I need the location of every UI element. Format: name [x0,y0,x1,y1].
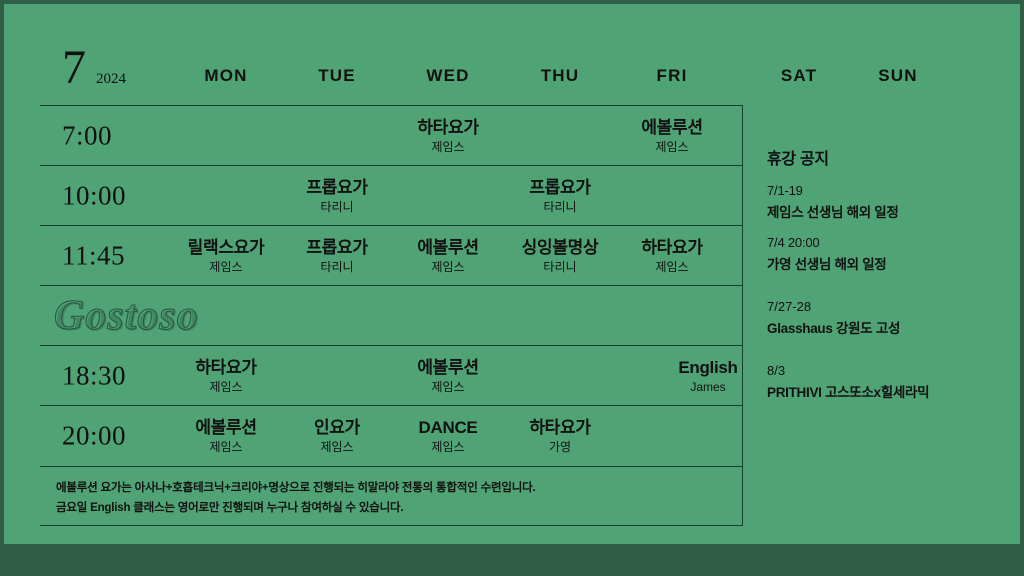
schedule-row-1830: 18:30 하타요가 제임스 에볼루션 제임스 English James [40,346,742,406]
class-title: English [678,356,737,377]
event-venue: Glasshaus [767,321,833,336]
class-teacher: 제임스 [195,440,256,455]
brand-logo: Gostoso [54,292,199,340]
class-title: 에볼루션 [417,356,478,377]
event-text: PRITHIVI 고스또소x힐세라믹 [767,381,988,401]
class-cell-thu[interactable]: 하타요가 가영 [529,417,590,455]
class-cell-wed[interactable]: DANCE 제임스 [419,417,478,455]
poster-header: 7 2024 MON TUE WED THU FRI SAT SUN [40,44,988,104]
class-cell-thu[interactable]: 프롭요가 타리니 [529,176,590,214]
class-cell-fri[interactable]: 에볼루션 제임스 [641,116,702,154]
footer-note: 에볼루션 요가는 아사나+호흡테크닉+크리야+명상으로 진행되는 히말라야 전통… [40,466,742,526]
class-cell-wed[interactable]: 에볼루션 제임스 [417,356,478,394]
day-header-fri: FRI [657,66,688,86]
class-title: 하타요가 [195,356,256,377]
class-teacher: 타리니 [306,200,367,215]
class-title: 하타요가 [641,236,702,257]
class-teacher: 제임스 [417,380,478,395]
row-time: 18:30 [62,360,126,391]
event-place: 강원도 고성 [836,321,900,336]
class-title: 싱잉볼명상 [522,236,599,257]
class-teacher: 가영 [529,440,590,455]
class-cell-mon[interactable]: 릴랙스요가 제임스 [188,236,265,274]
notice-text: 가영 선생님 해외 일정 [767,253,988,273]
class-teacher: 타리니 [522,260,599,275]
class-title: 에볼루션 [641,116,702,137]
schedule-poster: 7 2024 MON TUE WED THU FRI SAT SUN 7:00 … [4,4,1020,544]
class-teacher: 제임스 [641,260,702,275]
class-title: 에볼루션 [417,236,478,257]
logo-band: Gostoso [40,286,742,346]
day-header-mon: MON [204,66,247,86]
schedule-row-1000: 10:00 프롭요가 타리니 프롭요가 타리니 [40,166,742,226]
class-title: DANCE [419,417,478,438]
month-block: 7 2024 [62,44,126,92]
class-teacher: James [678,380,737,395]
class-cell-wed[interactable]: 하타요가 제임스 [417,116,478,154]
day-header-tue: TUE [318,66,356,86]
row-time: 20:00 [62,421,126,452]
class-title: 하타요가 [417,116,478,137]
event-date: 7/27-28 [767,299,988,314]
class-cell-wed[interactable]: 에볼루션 제임스 [417,236,478,274]
notice-item: 7/1-19 제임스 선생님 해외 일정 [767,183,988,221]
notice-date: 7/4 20:00 [767,235,988,250]
class-title: 프롭요가 [529,176,590,197]
class-cell-fri[interactable]: English James [678,356,737,394]
class-cell-tue[interactable]: 인요가 제임스 [314,417,360,455]
row-time: 11:45 [62,240,125,271]
day-header-wed: WED [426,66,469,86]
event-place: 고스또소x힐세라믹 [825,385,929,400]
class-title: 릴랙스요가 [188,236,265,257]
footer-note-line-1: 에볼루션 요가는 아사나+호흡테크닉+크리야+명상으로 진행되는 히말라야 전통… [56,478,742,498]
class-teacher: 제임스 [314,440,360,455]
class-cell-mon[interactable]: 에볼루션 제임스 [195,417,256,455]
row-time: 10:00 [62,180,126,211]
class-cell-mon[interactable]: 하타요가 제임스 [195,356,256,394]
event-item: 7/27-28 Glasshaus 강원도 고성 [767,299,988,337]
class-cell-tue[interactable]: 프롭요가 타리니 [306,176,367,214]
schedule-row-0700: 7:00 하타요가 제임스 에볼루션 제임스 [40,106,742,166]
class-cell-thu[interactable]: 싱잉볼명상 타리니 [522,236,599,274]
class-title: 인요가 [314,417,360,438]
schedule-row-1145: 11:45 릴랙스요가 제임스 프롭요가 타리니 에볼루션 제임스 싱잉볼명상 … [40,226,742,286]
class-teacher: 타리니 [306,260,367,275]
event-item: 8/3 PRITHIVI 고스또소x힐세라믹 [767,363,988,401]
event-text: Glasshaus 강원도 고성 [767,317,988,337]
class-cell-tue[interactable]: 프롭요가 타리니 [306,236,367,274]
sidebar: 휴강 공지 7/1-19 제임스 선생님 해외 일정 7/4 20:00 가영 … [742,105,988,526]
notice-section-title: 휴강 공지 [767,145,988,169]
class-cell-fri[interactable]: 하타요가 제임스 [641,236,702,274]
class-title: 하타요가 [529,417,590,438]
notice-item: 7/4 20:00 가영 선생님 해외 일정 [767,235,988,273]
schedule-grid: 7:00 하타요가 제임스 에볼루션 제임스 [40,105,742,467]
row-time: 7:00 [62,120,112,151]
year-label: 2024 [96,71,126,88]
month-number: 7 [62,44,86,92]
class-teacher: 제임스 [641,140,702,155]
day-header-sat: SAT [781,66,817,86]
class-title: 프롭요가 [306,236,367,257]
class-teacher: 제임스 [417,140,478,155]
class-title: 프롭요가 [306,176,367,197]
footer-note-line-2: 금요일 English 클래스는 영어로만 진행되며 누구나 참여하실 수 있습… [56,498,742,518]
event-venue: PRITHIVI [767,385,822,400]
event-date: 8/3 [767,363,988,378]
class-teacher: 타리니 [529,200,590,215]
class-teacher: 제임스 [417,260,478,275]
day-header-sun: SUN [878,66,918,86]
class-teacher: 제임스 [195,380,256,395]
schedule-row-2000: 20:00 에볼루션 제임스 인요가 제임스 DANCE 제임스 하타요가 가영 [40,406,742,466]
day-header-thu: THU [541,66,580,86]
notice-text: 제임스 선생님 해외 일정 [767,201,988,221]
class-teacher: 제임스 [188,260,265,275]
class-title: 에볼루션 [195,417,256,438]
notice-date: 7/1-19 [767,183,988,198]
class-teacher: 제임스 [419,440,478,455]
